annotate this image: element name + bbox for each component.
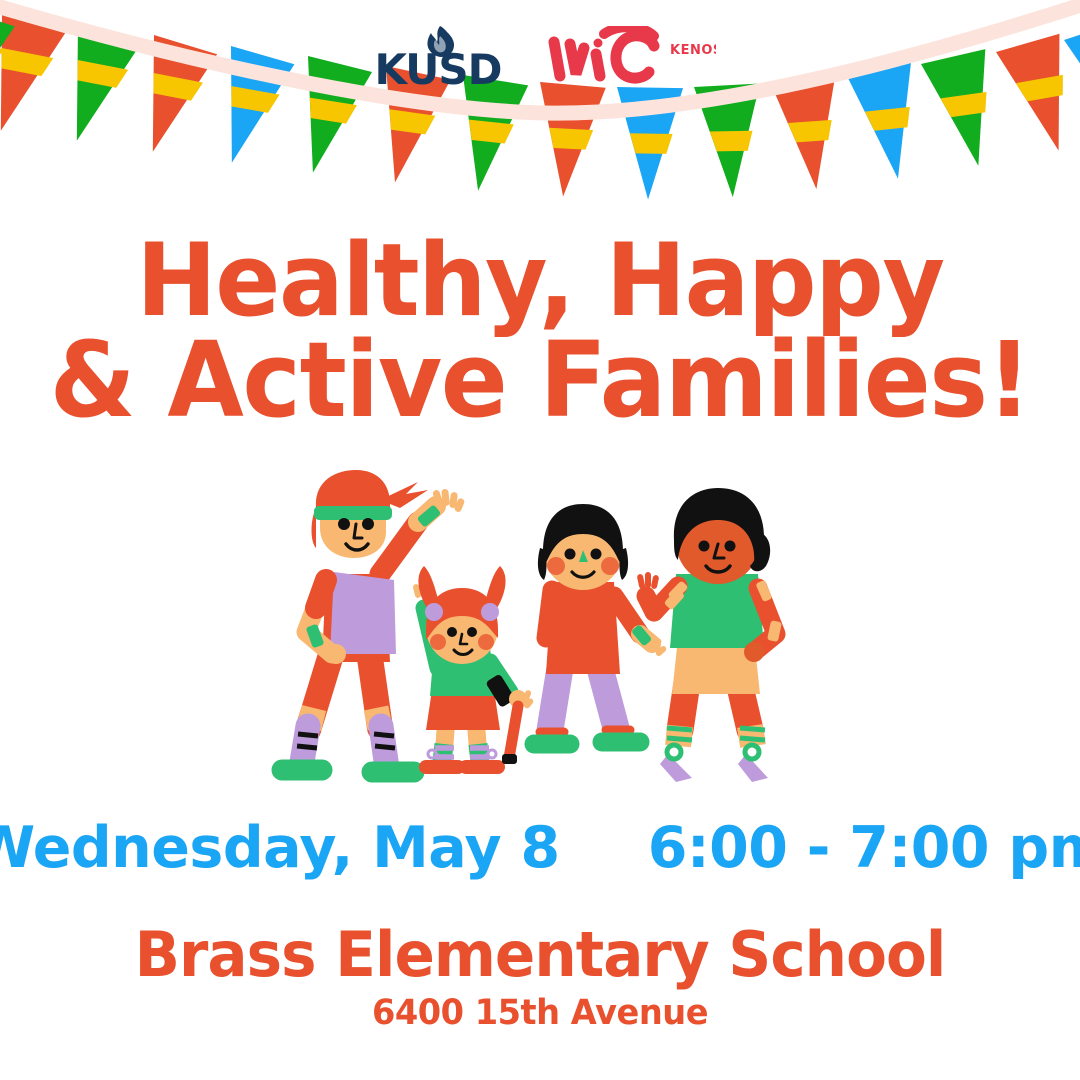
cheek-right <box>478 634 494 650</box>
wic-logo: KENOSHA <box>546 26 716 88</box>
event-date: Wednesday, May 8 <box>0 815 560 881</box>
eye-left <box>338 518 350 530</box>
event-time: 6:00 - 7:00 pm <box>648 815 1080 881</box>
cheek-left <box>547 557 565 575</box>
shoelace-left <box>667 745 681 759</box>
cheek-right <box>601 557 619 575</box>
kusd-wordmark: KUSD <box>374 45 501 90</box>
kusd-logo: KUSD <box>364 24 512 90</box>
page-title: Healthy, Happy & Active Families! <box>27 232 1053 431</box>
wic-sublabel: KENOSHA <box>670 43 716 58</box>
venue-address: 6400 15th Avenue <box>22 987 1059 1040</box>
eye-right <box>362 518 374 530</box>
venue-name: Brass Elementary School <box>22 922 1059 987</box>
hand-fingers <box>637 572 660 589</box>
eye-left <box>447 627 457 637</box>
event-datetime-row: Wednesday, May 8 6:00 - 7:00 pm <box>0 806 1080 890</box>
figure-child-in-green-shirt <box>637 488 782 782</box>
wic-mark <box>554 27 654 78</box>
eye-right <box>725 541 736 552</box>
figure-toddler-with-pigtails <box>412 566 534 767</box>
headline-line-2: & Active Families! <box>27 330 1053 431</box>
eye-left <box>699 541 710 552</box>
figure-child-with-bob-haircut <box>534 504 667 744</box>
eye-left <box>565 549 576 560</box>
flyer-canvas: KUSD KENOSHA Healthy, Happy & Active Fam… <box>0 0 1080 1080</box>
eye-right <box>591 549 602 560</box>
shoelace-right <box>745 745 759 759</box>
logo-row: KUSD KENOSHA <box>0 22 1080 92</box>
family-exercising-illustration <box>268 462 813 792</box>
hair-tie-right <box>481 603 499 621</box>
eye-right <box>467 627 477 637</box>
hair-tie-left <box>425 603 443 621</box>
headline-line-1: Healthy, Happy <box>27 232 1053 330</box>
event-venue: Brass Elementary School 6400 15th Avenue <box>0 922 1080 1040</box>
cheek-left <box>430 634 446 650</box>
